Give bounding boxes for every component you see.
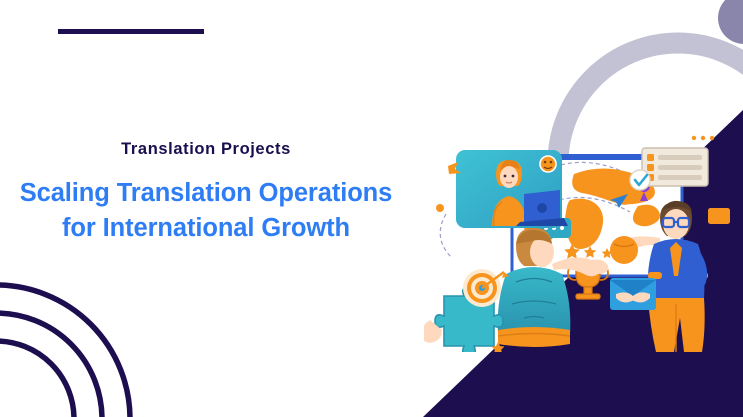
- emoji-badge: [540, 156, 556, 172]
- eyebrow-label: Translation Projects: [0, 140, 412, 158]
- top-rule: [58, 29, 204, 34]
- global-translation-team-illustration: [424, 122, 743, 352]
- headline-line-2: for International Growth: [0, 211, 412, 246]
- bottom-left-arcs: [0, 285, 130, 417]
- headline-line-1: Scaling Translation Operations: [0, 176, 412, 211]
- page-title: Scaling Translation Operations for Inter…: [0, 176, 412, 246]
- copy-block: Translation Projects Scaling Translation…: [0, 140, 412, 247]
- dots-icon: [692, 136, 714, 140]
- purple-circle: [718, 0, 743, 44]
- handshake-envelope: [610, 278, 656, 310]
- banner-root: Translation Projects Scaling Translation…: [0, 0, 743, 417]
